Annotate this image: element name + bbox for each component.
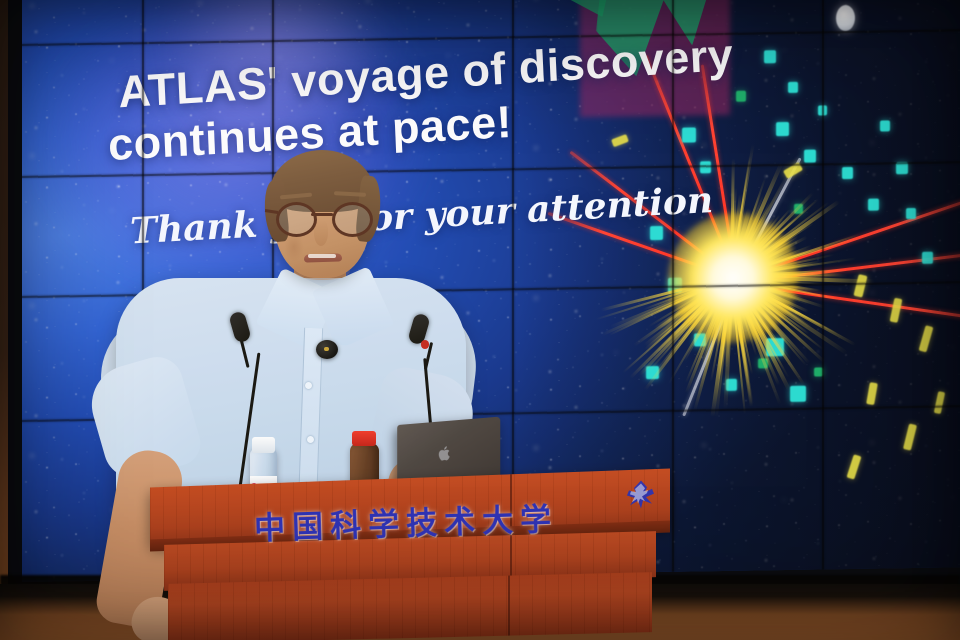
- wood-grain: [168, 572, 652, 640]
- nose: [314, 220, 328, 246]
- bottle-cap-left: [252, 437, 275, 453]
- chin-shadow: [294, 262, 350, 280]
- panel-seam-vertical: [822, 0, 824, 582]
- right-lens: [332, 202, 373, 237]
- teeth: [308, 254, 336, 258]
- left-lens: [276, 202, 317, 237]
- lectern-panel-seam: [508, 576, 510, 636]
- lectern-panel-seam: [510, 535, 512, 581]
- apple-logo-icon: [437, 445, 451, 463]
- shirt-button: [305, 382, 312, 389]
- photo-scene: ATLAS' voyage of discovery continues at …: [0, 0, 960, 640]
- lectern-body: [168, 572, 652, 640]
- usct-emblem-icon: [623, 477, 659, 512]
- bottle-cap-right: [352, 431, 376, 446]
- lavalier-indicator: [324, 347, 329, 351]
- microphone-tip-right: [421, 340, 429, 349]
- glasses-bridge: [311, 213, 333, 216]
- panel-seam-vertical: [672, 0, 674, 582]
- shirt-button: [307, 436, 314, 443]
